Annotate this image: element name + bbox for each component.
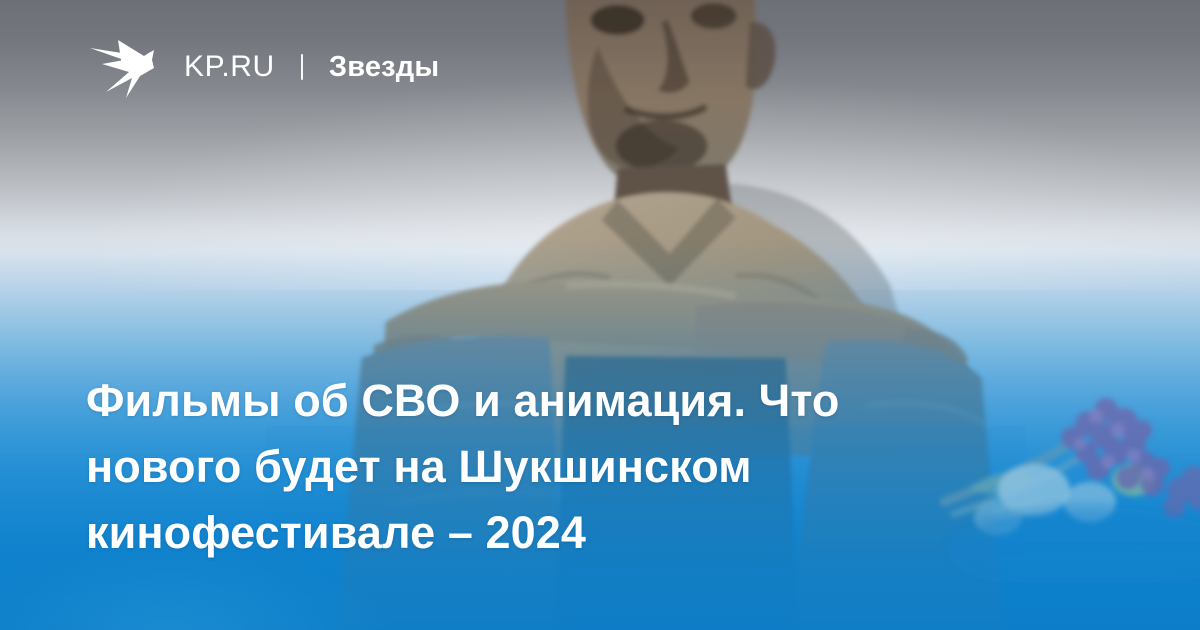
headline-line-3: кинофестивале – 2024 — [86, 500, 1066, 566]
site-header: KP.RU Звезды — [88, 34, 439, 100]
social-share-card: KP.RU Звезды Фильмы об СВО и анимация. Ч… — [0, 0, 1200, 630]
section-label[interactable]: Звезды — [329, 51, 440, 84]
swallow-bird-icon[interactable] — [88, 34, 156, 100]
headline-line-1: Фильмы об СВО и анимация. Что — [86, 368, 1066, 434]
headline-line-2: нового будет на Шукшинском — [86, 434, 1066, 500]
brand-name[interactable]: KP.RU — [184, 50, 275, 84]
header-separator — [301, 54, 303, 80]
article-headline: Фильмы об СВО и анимация. Что нового буд… — [86, 368, 1066, 566]
